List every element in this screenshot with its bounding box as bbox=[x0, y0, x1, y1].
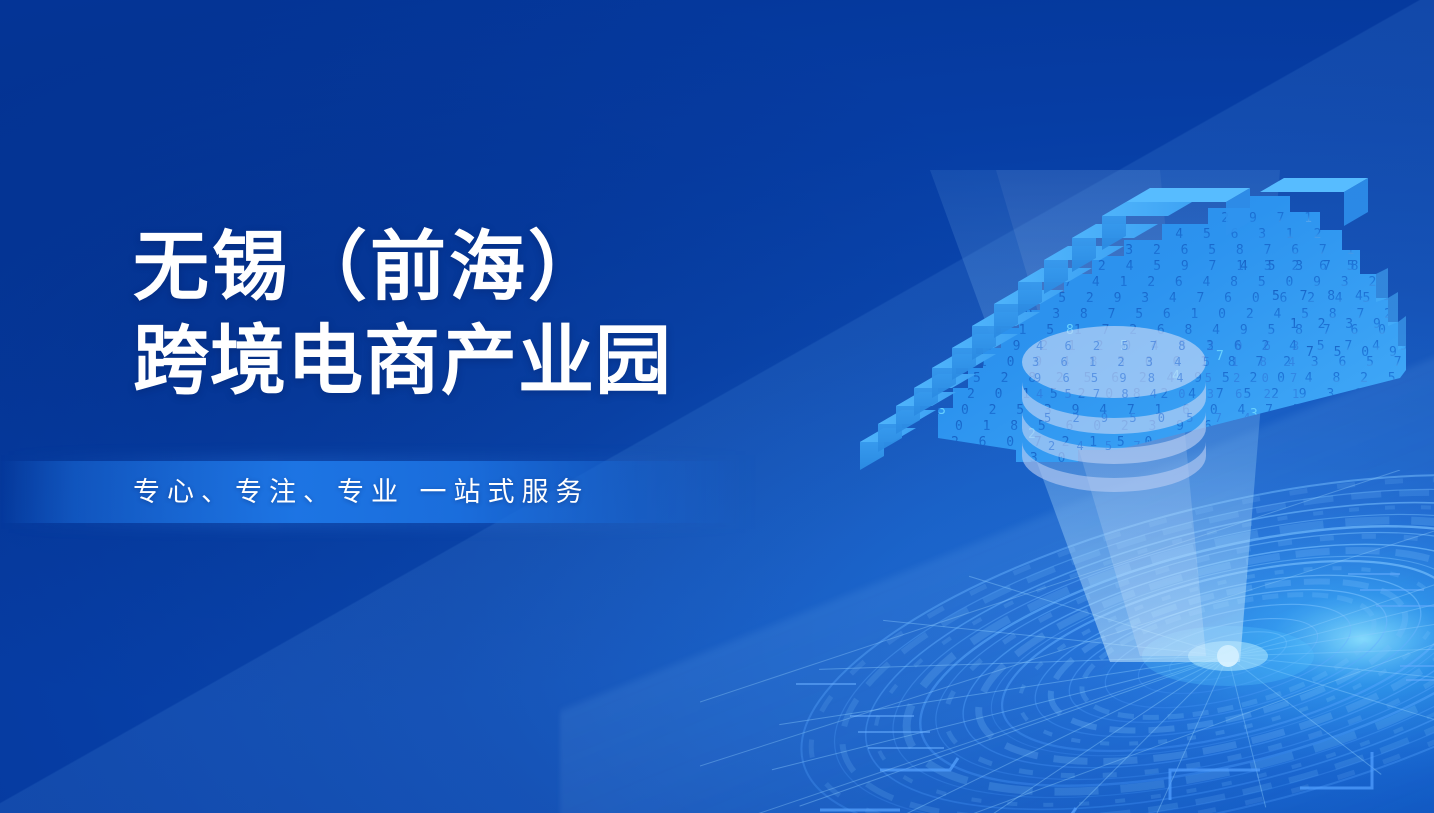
svg-text:4 5 7 8 4 0 3 6 2 1: 4 5 7 8 4 0 3 6 2 1 bbox=[1036, 387, 1306, 401]
svg-text:5 2 1 6 4 1 7 5 9 2 0 8 3 6 4: 5 2 1 6 4 1 7 5 9 2 0 8 3 6 4 1 7 5 2 9 … bbox=[854, 499, 1434, 514]
svg-text:7: 7 bbox=[986, 275, 994, 290]
page-title: 无锡（前海） 跨境电商产业园 bbox=[133, 221, 672, 409]
banner-root: 4 5 1 8 7 0 2 4 5 9 7 1 3 2 6 5 8 7 6 1 … bbox=[0, 0, 1434, 813]
page-title-line-1: 无锡（前海） bbox=[133, 221, 672, 315]
svg-text:9 6 5 9 8 4 5 2 0 7: 9 6 5 9 8 4 5 2 0 7 bbox=[1034, 371, 1304, 385]
page-title-line-2: 跨境电商产业园 bbox=[133, 315, 672, 409]
svg-text:5 2 9 5 0 5 7 4 1 3: 5 2 9 5 0 5 7 4 1 3 bbox=[1044, 411, 1314, 425]
svg-text:3 6 1 2 3 4 5 1 8 4: 3 6 1 2 3 4 5 1 8 4 bbox=[1032, 355, 1302, 369]
isometric-pixel-cloud: 4 5 1 8 7 0 2 4 5 9 7 1 3 2 6 5 8 7 6 1 … bbox=[820, 150, 1420, 530]
svg-text:9: 9 bbox=[912, 439, 920, 454]
svg-text:4 6 2 5 7 8 2 0 6 3: 4 6 2 5 7 8 2 0 6 3 bbox=[1036, 339, 1306, 353]
page-subtitle: 专心、专注、专业 一站式服务 bbox=[133, 470, 653, 514]
